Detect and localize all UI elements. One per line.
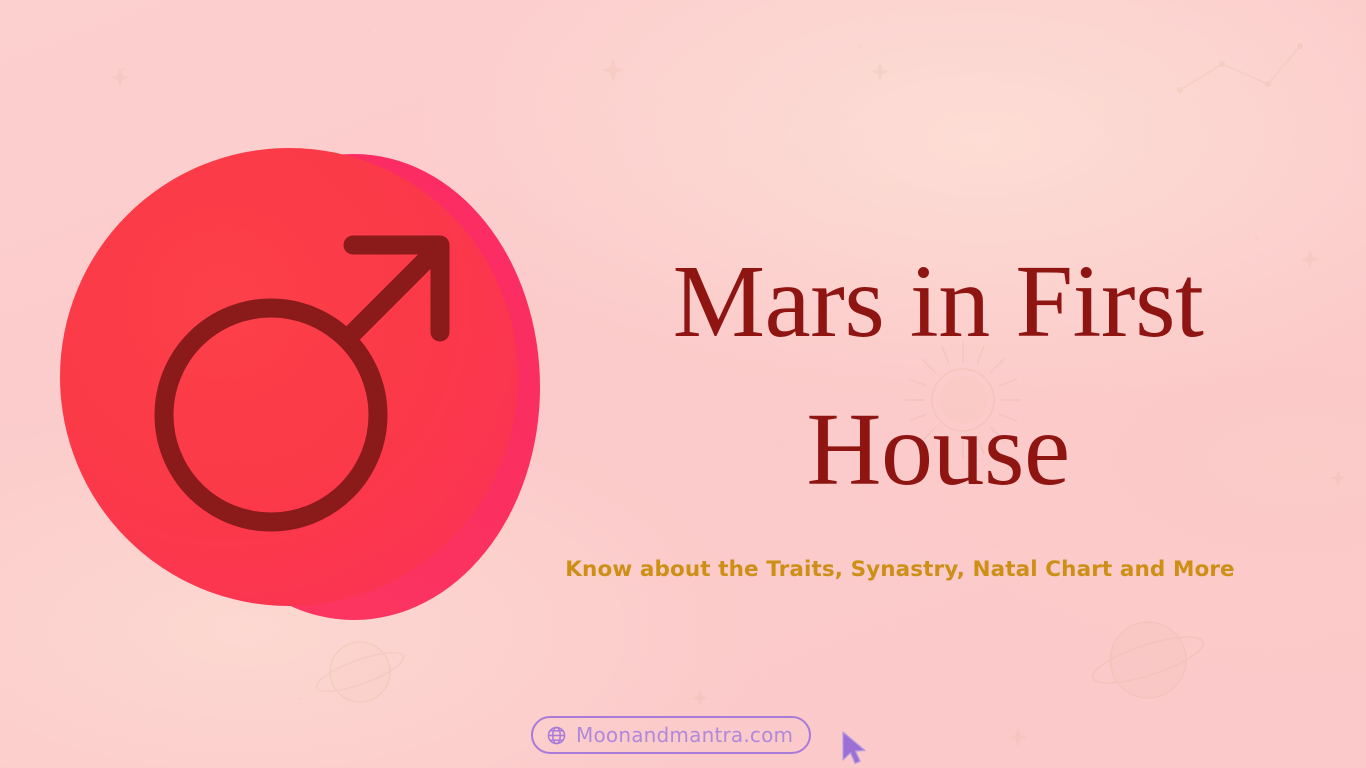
mouse-cursor-icon xyxy=(840,730,868,768)
site-url-badge[interactable]: Moonandmantra.com xyxy=(531,716,811,754)
page-title: Mars in First House xyxy=(560,228,1316,524)
poster-canvas: Mars in First House Know about the Trait… xyxy=(0,0,1366,768)
ringed-planet-motif-icon-2 xyxy=(313,642,408,702)
page-title-line-1: Mars in First xyxy=(560,228,1316,376)
page-subtitle: Know about the Traits, Synastry, Natal C… xyxy=(430,557,1366,582)
mars-emblem xyxy=(60,138,540,620)
ringed-planet-motif-icon xyxy=(1088,622,1208,698)
site-url-label: Moonandmantra.com xyxy=(576,723,793,747)
constellation-motif-icon xyxy=(1177,43,1303,93)
page-title-line-2: House xyxy=(560,376,1316,524)
crescent-moon-motif-icon xyxy=(124,674,150,726)
mars-symbol-icon xyxy=(140,210,470,540)
globe-icon xyxy=(546,725,567,746)
